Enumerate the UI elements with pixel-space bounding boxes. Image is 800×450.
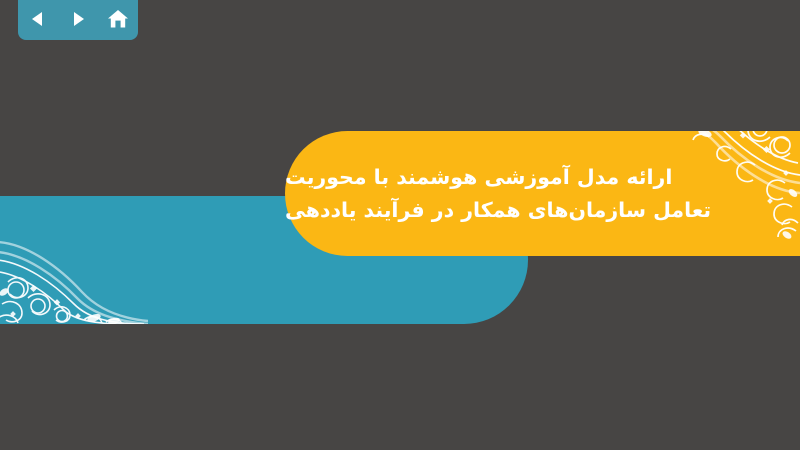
arabesque-ornament-teal [0,196,148,324]
home-button[interactable] [104,6,132,32]
slide-navigation-bar [18,0,138,40]
arabesque-ornament-yellow [635,131,800,241]
next-slide-button[interactable] [64,6,92,32]
previous-slide-button[interactable] [24,6,52,32]
home-icon [107,9,129,29]
yellow-banner-shape [285,131,800,256]
triangle-left-icon [29,10,47,28]
triangle-right-icon [69,10,87,28]
presentation-slide: ارائه مدل آموزشی هوشمند با محوریت تعامل … [0,0,800,450]
